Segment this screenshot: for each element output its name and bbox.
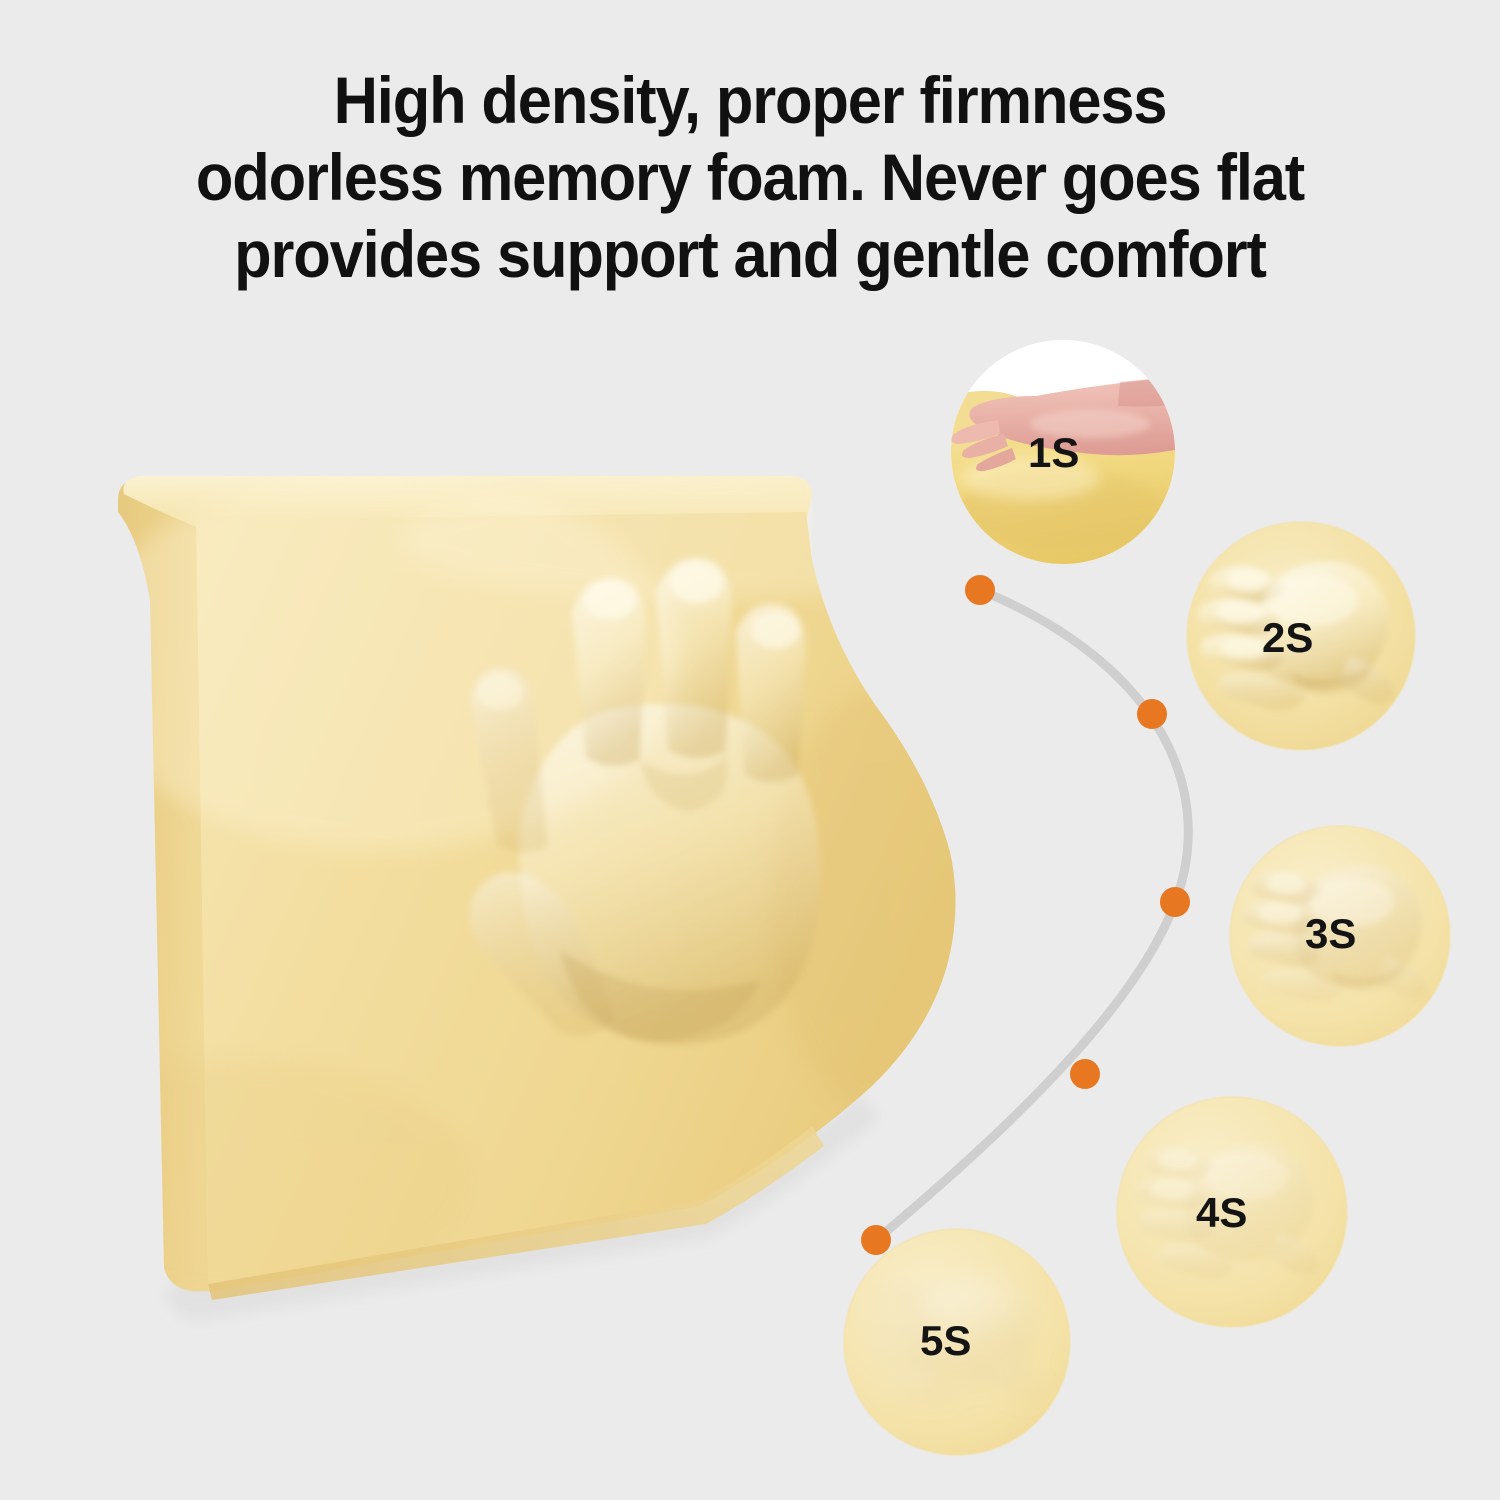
timeline-dot-2 [1137,699,1167,729]
timeline-dot-5 [861,1225,891,1255]
timeline-label-4s: 4S [1196,1192,1247,1234]
product-illustration [0,0,1500,1500]
infographic-canvas: High density, proper firmness odorless m… [0,0,1500,1500]
foam-wedge [30,470,1000,1320]
timeline-label-2s: 2S [1262,617,1313,659]
timeline-dot-3 [1160,887,1190,917]
timeline-label-3s: 3S [1305,913,1356,955]
timeline-label-5s: 5S [920,1320,971,1362]
timeline-dot-1 [965,575,995,605]
timeline-label-1s: 1S [1028,432,1079,474]
timeline-dot-4 [1070,1059,1100,1089]
